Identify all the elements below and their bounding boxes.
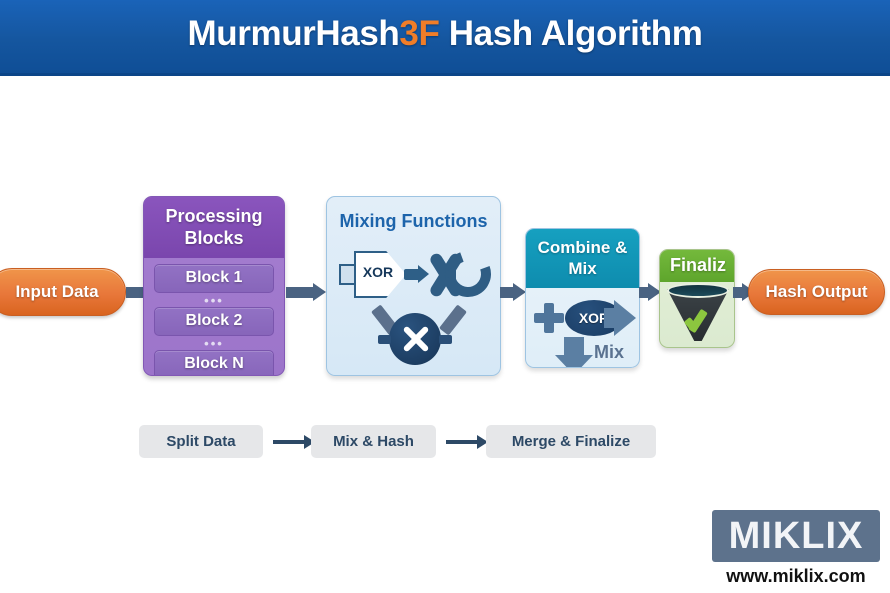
block-ellipsis-1: ••• (154, 293, 274, 307)
funnel-rim (667, 283, 729, 298)
step-split-data[interactable]: Split Data (139, 425, 263, 458)
down-arrow-icon (555, 337, 593, 368)
processing-blocks-card[interactable]: Processing Blocks Block 1 ••• Block 2 ••… (143, 196, 285, 376)
arrow-processing-to-mixing (286, 283, 326, 301)
title-prefix: MurmurHash (188, 14, 400, 53)
arrow-step-1-to-2 (273, 435, 315, 449)
processing-blocks-body: Block 1 ••• Block 2 ••• Block N ••• (144, 258, 284, 376)
step-label: Merge & Finalize (512, 433, 630, 450)
arrow-head (313, 283, 326, 301)
combine-mix-title: Combine & Mix (526, 229, 639, 288)
combine-mix-label: Mix (594, 342, 624, 363)
logo-text: MIKLIX (729, 515, 864, 558)
arrow-step-2-to-3 (446, 435, 488, 449)
right-arrow-shaft (604, 308, 614, 328)
input-data-label: Input Data (15, 282, 98, 302)
right-arrow-icon (604, 300, 636, 336)
arrow-shaft (446, 440, 477, 444)
step-label: Mix & Hash (333, 433, 414, 450)
block-item-3[interactable]: Block N (154, 350, 274, 376)
block-item-2[interactable]: Block 2 (154, 307, 274, 336)
diagram-canvas: MurmurHash3F Hash Algorithm Input Data P… (0, 0, 890, 593)
arrow-shaft (733, 287, 742, 298)
arrow-combine-to-finalize (639, 283, 661, 301)
step-merge-finalize[interactable]: Merge & Finalize (486, 425, 656, 458)
diagonal-arrow-right (439, 304, 467, 335)
right-arrow-head (614, 300, 636, 336)
check-icon (685, 307, 713, 329)
mixing-functions-card[interactable]: Mixing Functions XOR (326, 196, 501, 376)
block-ellipsis-2: ••• (154, 336, 274, 350)
page-title: MurmurHash3F Hash Algorithm (0, 14, 890, 54)
plus-bar-v (544, 303, 554, 333)
step-label: Split Data (166, 433, 235, 450)
arrow-mixing-to-combine (500, 283, 526, 301)
circle-x-icon (389, 313, 441, 365)
rotate-tip (443, 265, 456, 283)
xor-gate-input-tab (339, 264, 356, 285)
title-suffix: Hash Algorithm (439, 14, 702, 53)
mixing-functions-title: Mixing Functions (327, 197, 500, 232)
circle-x-left-nub (378, 335, 391, 344)
arrow-shaft (273, 440, 304, 444)
miklix-logo: MIKLIX (712, 510, 880, 562)
circle-x-right-nub (439, 335, 452, 344)
arrow-shaft (286, 287, 313, 298)
xor-gate-icon: XOR (339, 251, 434, 299)
input-data-node[interactable]: Input Data (0, 268, 126, 316)
finalize-card[interactable]: Finaliz (659, 249, 735, 348)
title-accent: 3F (399, 14, 439, 53)
plus-icon (534, 303, 564, 333)
funnel-icon (667, 283, 729, 345)
step-mix-hash[interactable]: Mix & Hash (311, 425, 436, 458)
processing-blocks-title: Processing Blocks (144, 197, 284, 258)
header-band: MurmurHash3F Hash Algorithm (0, 0, 890, 76)
block-item-1[interactable]: Block 1 (154, 264, 274, 293)
down-arrow-shaft (564, 337, 584, 355)
combine-mix-card[interactable]: Combine & Mix XOR Mix (525, 228, 640, 368)
finalize-title: Finaliz (660, 250, 734, 282)
logo-url: www.miklix.com (712, 566, 880, 587)
rotate-arrow-icon (445, 251, 491, 297)
arrow-shaft (639, 287, 648, 298)
xor-gate-output-nub (404, 269, 420, 280)
xor-gate-label: XOR (358, 264, 398, 280)
arrow-shaft (500, 287, 513, 298)
hash-output-label: Hash Output (766, 282, 868, 302)
hash-output-node[interactable]: Hash Output (748, 269, 885, 315)
down-arrow-head (555, 355, 593, 368)
